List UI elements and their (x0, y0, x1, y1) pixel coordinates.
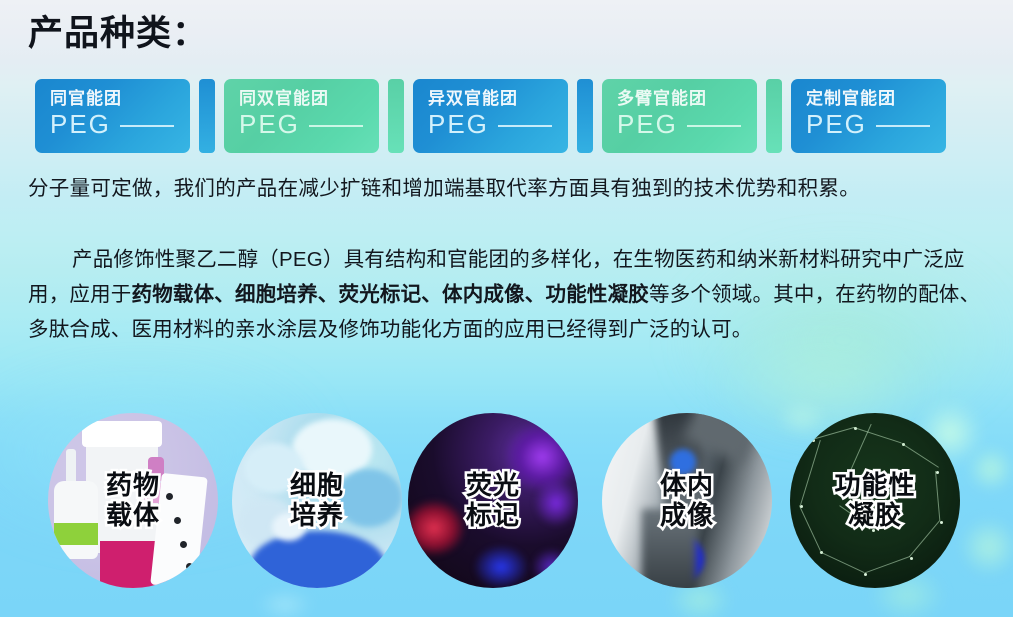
badge-separator (199, 79, 215, 153)
application-label-line1: 体内 (660, 471, 714, 500)
badge-duo-bi-guan-neng-tuan[interactable]: 多臂官能团 PEG (602, 79, 757, 153)
application-circle-label: 功能性 凝胶 (834, 471, 915, 529)
application-label-line1: 细胞 (290, 471, 344, 500)
application-label-line2: 载体 (106, 501, 160, 530)
badge-label-cn: 异双官能团 (428, 90, 568, 109)
lead-line: 分子量可定做，我们的产品在减少扩链和增加端基取代率方面具有独到的技术优势和积累。 (28, 171, 860, 201)
badge-label-cn: 同官能团 (50, 90, 190, 109)
badge-dash-icon (876, 125, 930, 127)
badge-separator (766, 79, 782, 153)
badge-separator (577, 79, 593, 153)
body-paragraph: 产品修饰性聚乙二醇（PEG）具有结构和官能团的多样化，在生物医药和纳米新材料研究… (28, 242, 988, 347)
badge-peg-line: PEG (239, 111, 379, 138)
application-circle-label: 药物 载体 (106, 471, 160, 529)
badge-dash-icon (687, 125, 741, 127)
badge-separator (388, 79, 404, 153)
badge-yi-shuang-guan-neng-tuan[interactable]: 异双官能团 PEG (413, 79, 568, 153)
badge-tong-shuang-guan-neng-tuan[interactable]: 同双官能团 PEG (224, 79, 379, 153)
badge-dash-icon (309, 125, 363, 127)
application-label-line1: 药物 (106, 471, 160, 500)
badge-label-peg: PEG (428, 111, 489, 138)
application-circle-label: 体内 成像 (660, 471, 714, 529)
badge-label-peg: PEG (239, 111, 300, 138)
badge-peg-line: PEG (50, 111, 190, 138)
paragraph-segment-2-bold: 药物载体、细胞培养、荧光标记、体内成像、功能性凝胶 (132, 283, 650, 306)
application-circle-row: 药物 载体 细胞 培养 (0, 413, 1013, 593)
application-label-line2: 标记 (466, 501, 520, 530)
application-label-line2: 培养 (290, 501, 344, 530)
application-label-line2: 凝胶 (834, 501, 915, 530)
badge-dash-icon (120, 125, 174, 127)
application-circle-drug-carrier[interactable]: 药物 载体 (48, 413, 218, 588)
product-category-badge-row: 同官能团 PEG 同双官能团 PEG 异双官能团 PEG 多臂官能团 (35, 79, 946, 153)
application-label-line1: 荧光 (466, 471, 520, 500)
application-label-line2: 成像 (660, 501, 714, 530)
page-title: 产品种类： (28, 13, 208, 55)
badge-label-cn: 定制官能团 (806, 90, 946, 109)
badge-label-cn: 同双官能团 (239, 90, 379, 109)
application-circle-label: 细胞 培养 (290, 471, 344, 529)
product-category-poster: 产品种类： 同官能团 PEG 同双官能团 PEG 异双官能团 PEG (0, 0, 1013, 617)
badge-peg-line: PEG (428, 111, 568, 138)
badge-ding-zhi-guan-neng-tuan[interactable]: 定制官能团 PEG (791, 79, 946, 153)
badge-dash-icon (498, 125, 552, 127)
badge-label-peg: PEG (50, 111, 111, 138)
badge-label-cn: 多臂官能团 (617, 90, 757, 109)
badge-tong-guan-neng-tuan[interactable]: 同官能团 PEG (35, 79, 190, 153)
application-circle-in-vivo-imaging[interactable]: 体内 成像 (602, 413, 772, 588)
application-circle-functional-hydrogel[interactable]: 功能性 凝胶 (790, 413, 960, 588)
badge-label-peg: PEG (617, 111, 678, 138)
application-label-line1: 功能性 (834, 471, 915, 500)
application-circle-cell-culture[interactable]: 细胞 培养 (232, 413, 402, 588)
application-circle-label: 荧光 标记 (466, 471, 520, 529)
application-circle-fluorescence-label[interactable]: 荧光 标记 (408, 413, 578, 588)
badge-peg-line: PEG (617, 111, 757, 138)
badge-label-peg: PEG (806, 111, 867, 138)
badge-peg-line: PEG (806, 111, 946, 138)
